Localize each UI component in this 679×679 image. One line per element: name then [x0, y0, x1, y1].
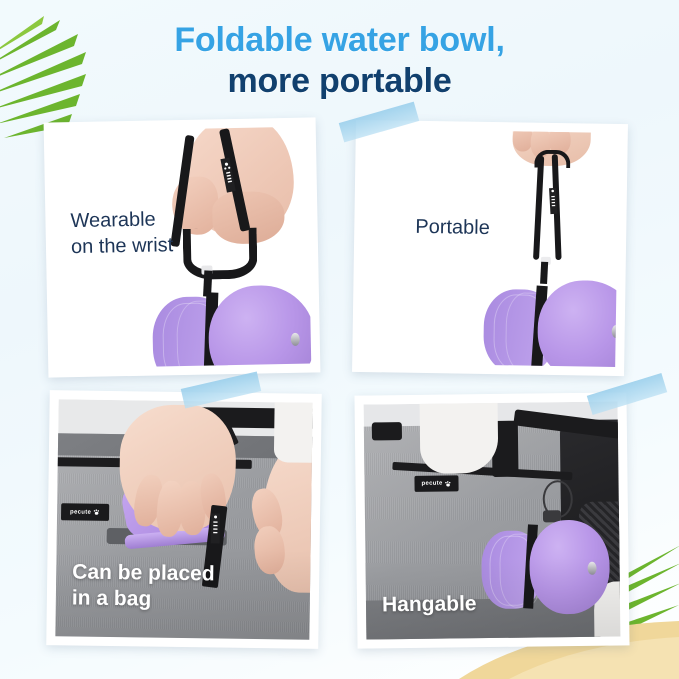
- sleeve-shape: [419, 401, 498, 473]
- page-title: Foldable water bowl, more portable: [0, 20, 679, 103]
- sleeve-shape: [274, 399, 313, 463]
- product-bowl-wearable: [152, 284, 311, 368]
- caption-portable: Portable: [415, 215, 490, 242]
- panel-bag-photo: pecute: [55, 399, 312, 640]
- caption-hangable: Hangable: [382, 591, 477, 618]
- panel-hangable-photo: pecute: [364, 401, 621, 639]
- title-line-2: more portable: [0, 61, 679, 102]
- tape-strip-hangable: [587, 373, 667, 415]
- feature-panel-grid: Wearable on the wrist: [0, 112, 679, 672]
- panel-wearable[interactable]: Wearable on the wrist: [44, 117, 321, 377]
- bowl-button-icon: [291, 333, 300, 346]
- brand-tag-text: pecute: [421, 481, 442, 487]
- caption-wearable: Wearable on the wrist: [70, 207, 173, 260]
- panel-bag[interactable]: pecute: [46, 390, 322, 649]
- strap-brand-logo-bag: [211, 513, 220, 543]
- brand-tag-pecute: pecute: [414, 475, 458, 492]
- bowl-button-icon: [612, 325, 619, 338]
- scene-fingers-hanging: [361, 129, 619, 367]
- panel-wearable-photo: Wearable on the wrist: [53, 127, 312, 369]
- bowl-main-body: [537, 280, 619, 367]
- panel-portable-photo: Portable: [361, 129, 619, 367]
- caption-bag: Can be placed in a bag: [72, 559, 215, 612]
- panel-hangable[interactable]: pecute: [354, 392, 629, 648]
- product-bowl-portable: [483, 279, 619, 367]
- wrist-strap-loop: [183, 228, 258, 280]
- brand-tag-text: pecute: [70, 509, 91, 515]
- strap-brand-logo-portable: [549, 188, 557, 214]
- panel-portable[interactable]: Portable: [352, 120, 628, 376]
- paw-print-icon: [93, 509, 100, 516]
- bag-top-handle: [372, 422, 402, 440]
- pecute-logo-icon: [211, 513, 220, 543]
- pecute-logo-icon: [549, 188, 557, 214]
- brand-tag-pecute: pecute: [61, 503, 109, 521]
- hanging-strap-left: [533, 156, 544, 260]
- bowl-main-body: [208, 284, 311, 368]
- title-line-1: Foldable water bowl,: [0, 20, 679, 61]
- hanging-strap-loop-top: [534, 150, 570, 169]
- paw-print-icon: [445, 480, 452, 487]
